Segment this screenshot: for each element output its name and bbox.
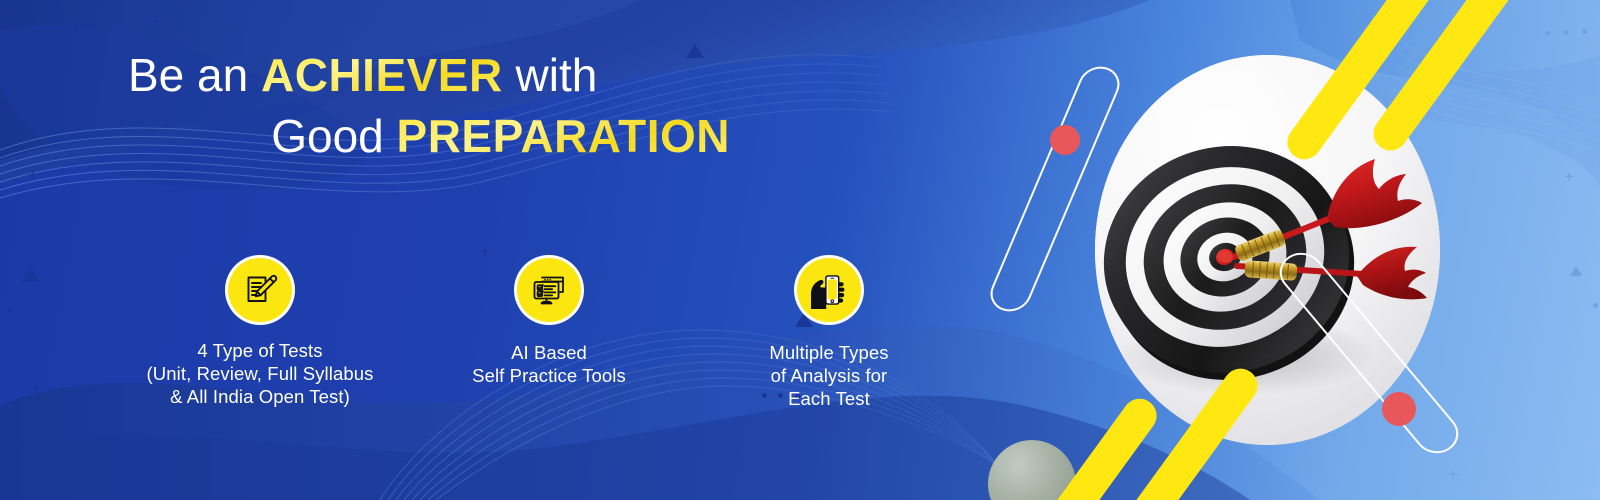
triangle-mark-icon <box>22 268 40 282</box>
decorative-dot <box>74 28 79 33</box>
feature-label: 4 Type of Tests (Unit, Review, Full Syll… <box>147 339 374 408</box>
plus-mark-icon: + <box>140 462 150 479</box>
plus-mark-icon: + <box>1564 168 1574 185</box>
triangle-mark-icon <box>1570 266 1582 276</box>
headline-line-1: Be an ACHIEVER with <box>128 52 748 98</box>
feature-icon-badge <box>225 255 295 325</box>
decorative-dot <box>7 308 12 313</box>
decorative-dot <box>33 385 38 390</box>
decorative-dot <box>1593 303 1598 308</box>
decorative-dot <box>1545 31 1550 36</box>
headline-text-achiever: ACHIEVER <box>261 49 503 101</box>
decorative-dot <box>36 28 41 33</box>
plus-mark-icon: + <box>1448 466 1458 483</box>
plus-mark-icon: + <box>152 13 162 30</box>
headline-text-preparation: PREPARATION <box>397 110 730 162</box>
decorative-dot <box>1563 30 1568 35</box>
decorative-dot <box>2 72 7 77</box>
headline-block: Be an ACHIEVER with Good PREPARATION <box>128 52 748 159</box>
decorative-dot <box>19 28 24 33</box>
feature-item-tests[interactable]: 4 Type of Tests (Unit, Review, Full Syll… <box>110 255 410 408</box>
feature-icon-badge <box>514 255 584 325</box>
headline-line-2: Good PREPARATION <box>128 113 748 159</box>
feature-icon-badge <box>794 255 864 325</box>
coral-circle-right <box>1382 392 1416 426</box>
headline-text-good: Good <box>271 110 396 162</box>
plus-mark-icon: + <box>28 166 38 183</box>
headline-text-with: with <box>503 49 598 101</box>
monitor-checklist-icon <box>517 258 581 322</box>
feature-item-ai-tools[interactable]: AI Based Self Practice Tools <box>414 255 684 387</box>
decorative-dot <box>3 28 8 33</box>
promo-banner: + + + + + + + Be an ACHIEVER with Good P… <box>0 0 1600 500</box>
headline-text-be-an: Be an <box>128 49 261 101</box>
decorative-dot <box>1582 29 1587 34</box>
document-pencil-icon <box>228 258 292 322</box>
coral-circle-left <box>1050 125 1080 155</box>
feature-label: Multiple Types of Analysis for Each Test <box>769 341 888 410</box>
feature-label: AI Based Self Practice Tools <box>472 341 626 387</box>
feature-item-analysis[interactable]: Multiple Types of Analysis for Each Test <box>704 255 954 410</box>
feature-list: 4 Type of Tests (Unit, Review, Full Syll… <box>110 255 970 410</box>
decorative-dot <box>54 28 59 33</box>
hand-holding-phone-icon <box>797 258 861 322</box>
